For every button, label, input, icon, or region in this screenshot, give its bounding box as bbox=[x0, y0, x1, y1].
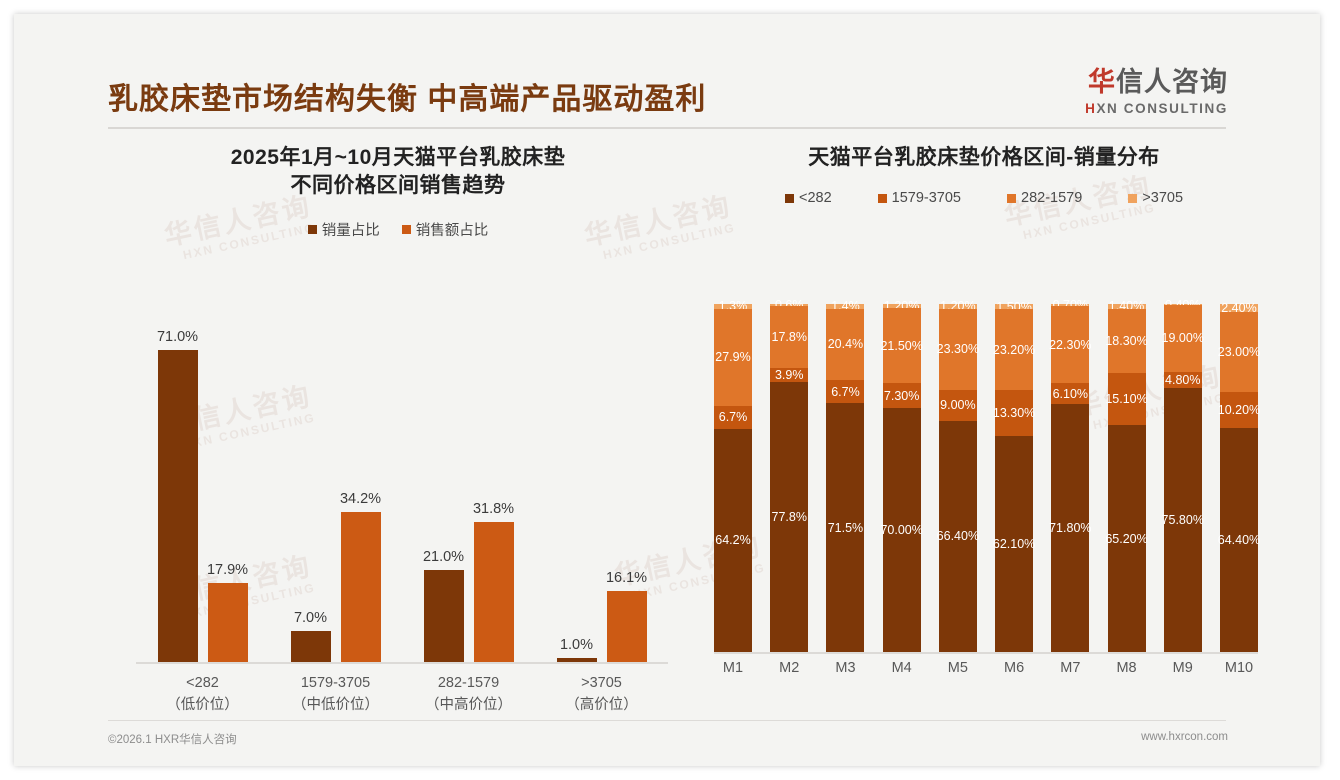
footer-website: www.hxrcon.com bbox=[1141, 731, 1228, 743]
stack-segment-label: 23.00% bbox=[1218, 345, 1260, 359]
logo-cn-accent: 华 bbox=[1088, 67, 1116, 97]
stack-segment-label: 62.10% bbox=[993, 537, 1035, 551]
left-x-tick-range: <282 bbox=[136, 672, 269, 694]
stack-segment-label: 9.00% bbox=[940, 398, 975, 412]
stack-segment-label: 7.30% bbox=[884, 389, 919, 403]
stack-segment: 65.20% bbox=[1108, 425, 1146, 652]
stack-segment: 21.50% bbox=[883, 308, 921, 383]
left-x-tick: <282（低价位） bbox=[136, 672, 269, 717]
stack-segment-label: 21.50% bbox=[880, 339, 922, 353]
legend-label: 销量占比 bbox=[322, 219, 380, 240]
right-stacked-bar[interactable]: 0.40%19.00%4.80%75.80% bbox=[1164, 304, 1202, 652]
legend-label: 销售额占比 bbox=[416, 219, 489, 240]
bar-value-label: 71.0% bbox=[157, 329, 198, 345]
legend-label: <282 bbox=[799, 190, 832, 206]
legend-swatch-icon bbox=[402, 225, 411, 234]
stack-segment-label: 64.40% bbox=[1218, 533, 1260, 547]
left-chart-plot-area: 71.0%17.9%7.0%34.2%21.0%31.8%1.0%16.1% <… bbox=[108, 332, 688, 704]
stack-segment-label: 64.2% bbox=[715, 533, 750, 547]
stack-segment: 7.30% bbox=[883, 383, 921, 408]
bar-value-label: 16.1% bbox=[606, 570, 647, 586]
bar-fill bbox=[341, 512, 381, 662]
stack-segment: 13.30% bbox=[995, 390, 1033, 436]
left-bar-revenue[interactable]: 34.2% bbox=[341, 512, 381, 662]
logo-cn-rest: 信人咨询 bbox=[1116, 67, 1228, 97]
stack-segment: 6.10% bbox=[1051, 383, 1089, 404]
legend-label: 1579-3705 bbox=[892, 190, 961, 206]
right-legend-item-2[interactable]: 282-1579 bbox=[1007, 190, 1082, 206]
stack-segment-label: 27.9% bbox=[715, 350, 750, 364]
left-x-tick-range: 282-1579 bbox=[402, 672, 535, 694]
stack-segment-label: 15.10% bbox=[1105, 392, 1147, 406]
right-stacked-bar[interactable]: 0.70%22.30%6.10%71.80% bbox=[1051, 304, 1089, 652]
right-stacked-bar[interactable]: 1.50%23.20%13.30%62.10% bbox=[995, 304, 1033, 652]
left-chart-title: 2025年1月~10月天猫平台乳胶床垫 不同价格区间销售趋势 bbox=[108, 144, 688, 201]
left-chart-panel: 2025年1月~10月天猫平台乳胶床垫 不同价格区间销售趋势 销量占比销售额占比… bbox=[108, 144, 688, 704]
bar-value-label: 7.0% bbox=[294, 610, 327, 626]
right-chart-plot-area: 1.3%27.9%6.7%64.2%0.6%17.8%3.9%77.8%1.4%… bbox=[704, 304, 1264, 704]
right-x-tick: M6 bbox=[995, 660, 1033, 688]
legend-swatch-icon bbox=[1007, 194, 1016, 203]
right-stacked-bar[interactable]: 1.4%20.4%6.7%71.5% bbox=[826, 304, 864, 652]
left-bar-volume[interactable]: 71.0% bbox=[158, 350, 198, 662]
legend-swatch-icon bbox=[1128, 194, 1137, 203]
page-title: 乳胶床垫市场结构失衡 中高端产品驱动盈利 bbox=[108, 74, 706, 118]
stack-segment: 6.7% bbox=[826, 380, 864, 403]
left-x-tick-tier: （低价位） bbox=[136, 694, 269, 716]
stack-segment-label: 3.9% bbox=[775, 368, 804, 382]
stack-segment: 9.00% bbox=[939, 390, 977, 421]
right-stacked-bar[interactable]: 1.3%27.9%6.7%64.2% bbox=[714, 304, 752, 652]
stack-segment-label: 6.7% bbox=[831, 385, 860, 399]
footer-copyright: ©2026.1 HXR华信人咨询 bbox=[108, 731, 237, 747]
stack-segment-label: 18.30% bbox=[1105, 334, 1147, 348]
left-legend-item-0[interactable]: 销量占比 bbox=[308, 219, 380, 240]
stack-segment-label: 71.80% bbox=[1049, 521, 1091, 535]
stack-segment-label: 71.5% bbox=[828, 521, 863, 535]
legend-label: 282-1579 bbox=[1021, 190, 1082, 206]
stack-segment-label: 17.8% bbox=[771, 330, 806, 344]
stack-segment: 75.80% bbox=[1164, 388, 1202, 652]
slide-canvas: 华信人咨询 HXN CONSULTING 华信人咨询 HXN CONSULTIN… bbox=[14, 14, 1320, 766]
stack-segment: 19.00% bbox=[1164, 305, 1202, 371]
right-chart-axis-line bbox=[714, 652, 1258, 654]
stack-segment-label: 6.7% bbox=[719, 410, 748, 424]
stack-segment: 23.30% bbox=[939, 309, 977, 390]
right-chart-legend: <2821579-3705282-1579>3705 bbox=[704, 190, 1264, 206]
stack-segment: 22.30% bbox=[1051, 306, 1089, 383]
stack-segment: 64.2% bbox=[714, 429, 752, 652]
left-x-tick-range: 1579-3705 bbox=[269, 672, 402, 694]
stack-segment: 4.80% bbox=[1164, 372, 1202, 389]
left-chart-axis-line bbox=[136, 662, 668, 664]
left-legend-item-1[interactable]: 销售额占比 bbox=[402, 219, 489, 240]
right-x-tick: M8 bbox=[1108, 660, 1146, 688]
right-chart-panel: 天猫平台乳胶床垫价格区间-销量分布 <2821579-3705282-1579>… bbox=[704, 144, 1264, 704]
stack-segment-label: 23.20% bbox=[993, 343, 1035, 357]
stack-segment: 71.80% bbox=[1051, 404, 1089, 652]
left-x-tick-tier: （中高价位） bbox=[402, 694, 535, 716]
stack-segment-label: 20.4% bbox=[828, 337, 863, 351]
right-legend-item-3[interactable]: >3705 bbox=[1128, 190, 1183, 206]
footer-divider bbox=[108, 720, 1226, 721]
left-bar-group: 71.0%17.9% bbox=[136, 332, 269, 662]
bar-fill bbox=[158, 350, 198, 662]
stack-segment: 27.9% bbox=[714, 309, 752, 406]
stack-segment-label: 22.30% bbox=[1049, 338, 1091, 352]
right-stacked-bar[interactable]: 2.40%23.00%10.20%64.40% bbox=[1220, 304, 1258, 652]
stack-segment: 18.30% bbox=[1108, 309, 1146, 373]
stack-segment-label: 70.00% bbox=[880, 523, 922, 537]
left-x-tick-tier: （高价位） bbox=[535, 694, 668, 716]
left-x-tick-range: >3705 bbox=[535, 672, 668, 694]
left-bar-volume[interactable]: 21.0% bbox=[424, 570, 464, 662]
left-bar-revenue[interactable]: 16.1% bbox=[607, 591, 647, 662]
stack-segment-label: 66.40% bbox=[937, 529, 979, 543]
left-bar-revenue[interactable]: 17.9% bbox=[208, 583, 248, 662]
right-x-tick: M9 bbox=[1164, 660, 1202, 688]
legend-swatch-icon bbox=[785, 194, 794, 203]
stack-segment: 10.20% bbox=[1220, 392, 1258, 427]
left-chart-title-line2: 不同价格区间销售趋势 bbox=[108, 172, 688, 200]
stack-segment: 23.00% bbox=[1220, 312, 1258, 392]
right-chart-title: 天猫平台乳胶床垫价格区间-销量分布 bbox=[704, 144, 1264, 172]
stack-segment: 6.7% bbox=[714, 406, 752, 429]
right-stacked-bar[interactable]: 1.20%23.30%9.00%66.40% bbox=[939, 304, 977, 652]
stack-segment: 2.40% bbox=[1220, 304, 1258, 312]
stack-segment: 17.8% bbox=[770, 306, 808, 368]
bar-fill bbox=[474, 522, 514, 662]
left-chart-legend: 销量占比销售额占比 bbox=[108, 219, 688, 240]
legend-swatch-icon bbox=[878, 194, 887, 203]
stack-segment-label: 23.30% bbox=[937, 342, 979, 356]
right-chart-bars: 1.3%27.9%6.7%64.2%0.6%17.8%3.9%77.8%1.4%… bbox=[714, 304, 1258, 652]
stack-segment: 71.5% bbox=[826, 403, 864, 652]
right-x-tick: M3 bbox=[826, 660, 864, 688]
right-stacked-bar[interactable]: 1.20%21.50%7.30%70.00% bbox=[883, 304, 921, 652]
legend-swatch-icon bbox=[308, 225, 317, 234]
stack-segment-label: 19.00% bbox=[1162, 331, 1204, 345]
stack-segment: 66.40% bbox=[939, 421, 977, 652]
stack-segment-label: 10.20% bbox=[1218, 403, 1260, 417]
legend-label: >3705 bbox=[1142, 190, 1183, 206]
bar-fill bbox=[607, 591, 647, 662]
right-stacked-bar[interactable]: 0.6%17.8%3.9%77.8% bbox=[770, 304, 808, 652]
bar-fill bbox=[208, 583, 248, 662]
header-divider bbox=[108, 127, 1226, 129]
left-bar-revenue[interactable]: 31.8% bbox=[474, 522, 514, 662]
left-bar-group: 1.0%16.1% bbox=[535, 332, 668, 662]
stack-segment: 62.10% bbox=[995, 436, 1033, 652]
left-bar-group: 7.0%34.2% bbox=[269, 332, 402, 662]
logo-en-rest: XN CONSULTING bbox=[1096, 101, 1228, 116]
right-x-tick: M2 bbox=[770, 660, 808, 688]
logo-chinese: 华信人咨询 bbox=[1085, 69, 1228, 96]
left-x-tick: >3705（高价位） bbox=[535, 672, 668, 717]
left-chart-bars: 71.0%17.9%7.0%34.2%21.0%31.8%1.0%16.1% bbox=[136, 332, 668, 662]
stack-segment-label: 13.30% bbox=[993, 406, 1035, 420]
stack-segment-label: 65.20% bbox=[1105, 532, 1147, 546]
bar-value-label: 31.8% bbox=[473, 501, 514, 517]
bar-value-label: 1.0% bbox=[560, 637, 593, 653]
right-x-tick: M4 bbox=[883, 660, 921, 688]
left-x-tick: 1579-3705（中低价位） bbox=[269, 672, 402, 717]
stack-segment: 77.8% bbox=[770, 382, 808, 652]
brand-logo: 华信人咨询 HXN CONSULTING bbox=[1085, 69, 1228, 116]
stack-segment-label: 6.10% bbox=[1053, 387, 1088, 401]
left-chart-title-line1: 2025年1月~10月天猫平台乳胶床垫 bbox=[108, 144, 688, 172]
left-chart-x-axis: <282（低价位）1579-3705（中低价位）282-1579（中高价位）>3… bbox=[136, 672, 668, 732]
right-legend-item-1[interactable]: 1579-3705 bbox=[878, 190, 961, 206]
left-x-tick: 282-1579（中高价位） bbox=[402, 672, 535, 717]
left-bar-volume[interactable]: 7.0% bbox=[291, 631, 331, 662]
stack-segment: 64.40% bbox=[1220, 428, 1258, 652]
right-legend-item-0[interactable]: <282 bbox=[785, 190, 832, 206]
left-bar-group: 21.0%31.8% bbox=[402, 332, 535, 662]
slide-header: 乳胶床垫市场结构失衡 中高端产品驱动盈利 华信人咨询 HXN CONSULTIN… bbox=[14, 14, 1320, 132]
logo-english: HXN CONSULTING bbox=[1085, 101, 1228, 116]
right-x-tick: M5 bbox=[939, 660, 977, 688]
right-x-tick: M10 bbox=[1220, 660, 1258, 688]
right-stacked-bar[interactable]: 1.40%18.30%15.10%65.20% bbox=[1108, 304, 1146, 652]
stack-segment: 15.10% bbox=[1108, 373, 1146, 426]
right-x-tick: M1 bbox=[714, 660, 752, 688]
bar-value-label: 21.0% bbox=[423, 549, 464, 565]
bar-fill bbox=[291, 631, 331, 662]
left-x-tick-tier: （中低价位） bbox=[269, 694, 402, 716]
bar-value-label: 34.2% bbox=[340, 491, 381, 507]
logo-en-accent: H bbox=[1085, 101, 1096, 116]
stack-segment: 70.00% bbox=[883, 408, 921, 652]
stack-segment-label: 4.80% bbox=[1165, 373, 1200, 387]
stack-segment-label: 75.80% bbox=[1162, 513, 1204, 527]
bar-value-label: 17.9% bbox=[207, 562, 248, 578]
bar-fill bbox=[424, 570, 464, 662]
right-x-tick: M7 bbox=[1051, 660, 1089, 688]
stack-segment: 20.4% bbox=[826, 309, 864, 380]
right-chart-x-axis: M1M2M3M4M5M6M7M8M9M10 bbox=[714, 660, 1258, 688]
stack-segment-label: 77.8% bbox=[771, 510, 806, 524]
stack-segment: 23.20% bbox=[995, 309, 1033, 390]
stack-segment: 3.9% bbox=[770, 368, 808, 382]
